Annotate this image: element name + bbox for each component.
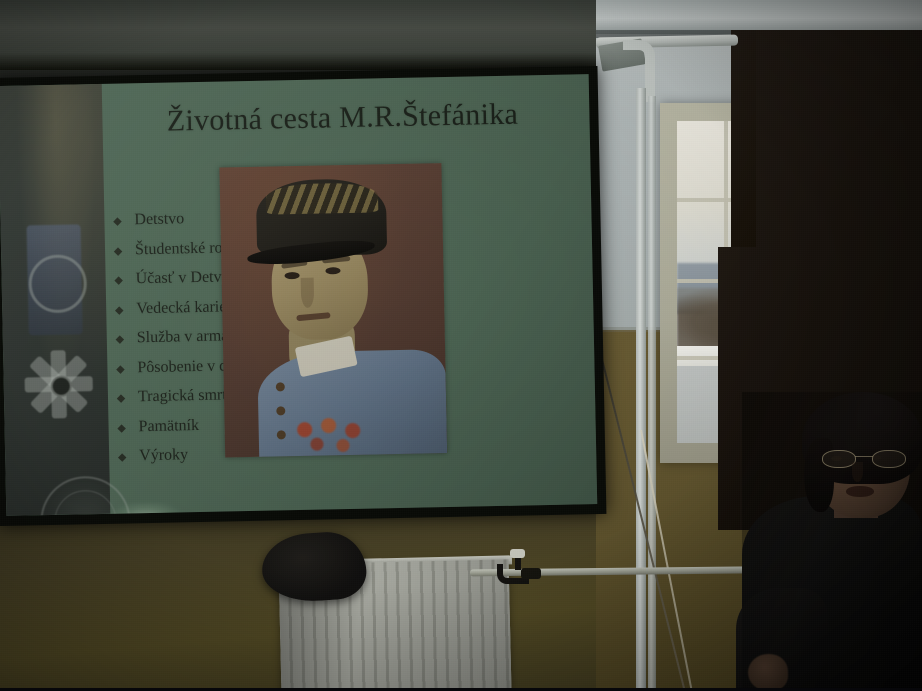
ceiling-band <box>596 0 922 34</box>
curtain-lower-edge <box>718 247 740 530</box>
portrait-medal-ribbons <box>286 414 387 457</box>
stefanik-portrait-photo <box>219 163 447 457</box>
valve-body <box>521 568 541 579</box>
projection-screen[interactable]: Životná cesta M.R.Štefánika Detstvo Štud… <box>0 66 606 526</box>
upper-left-wall <box>0 0 620 70</box>
valve-cap <box>510 549 525 558</box>
glasses-lens <box>822 450 856 468</box>
presenter-speaking <box>742 392 922 691</box>
vertical-conduit-pipe <box>636 88 646 691</box>
eyeglasses-icon <box>822 450 906 467</box>
radiator-valve[interactable] <box>497 556 539 582</box>
projected-slide: Životná cesta M.R.Štefánika Detstvo Štud… <box>0 74 597 516</box>
presenter-mouth <box>846 486 874 497</box>
portrait-cap-braid <box>266 182 379 214</box>
presenter-nose <box>852 462 863 482</box>
slide-title: Životná cesta M.R.Štefánika <box>102 96 583 140</box>
curtain-edge-fold <box>731 30 756 247</box>
glasses-bridge <box>855 456 873 457</box>
slide-decorative-band <box>0 84 110 516</box>
glasses-lens <box>872 450 906 468</box>
presenter-hand <box>748 654 788 691</box>
portrait-nose <box>301 278 315 308</box>
valve-stem <box>515 556 521 570</box>
presentation-room-photo: Životná cesta M.R.Štefánika Detstvo Štud… <box>0 0 922 691</box>
medal-coin-icon <box>40 475 132 515</box>
medal-cross-icon <box>21 346 96 421</box>
vertical-conduit-pipe <box>648 96 656 691</box>
